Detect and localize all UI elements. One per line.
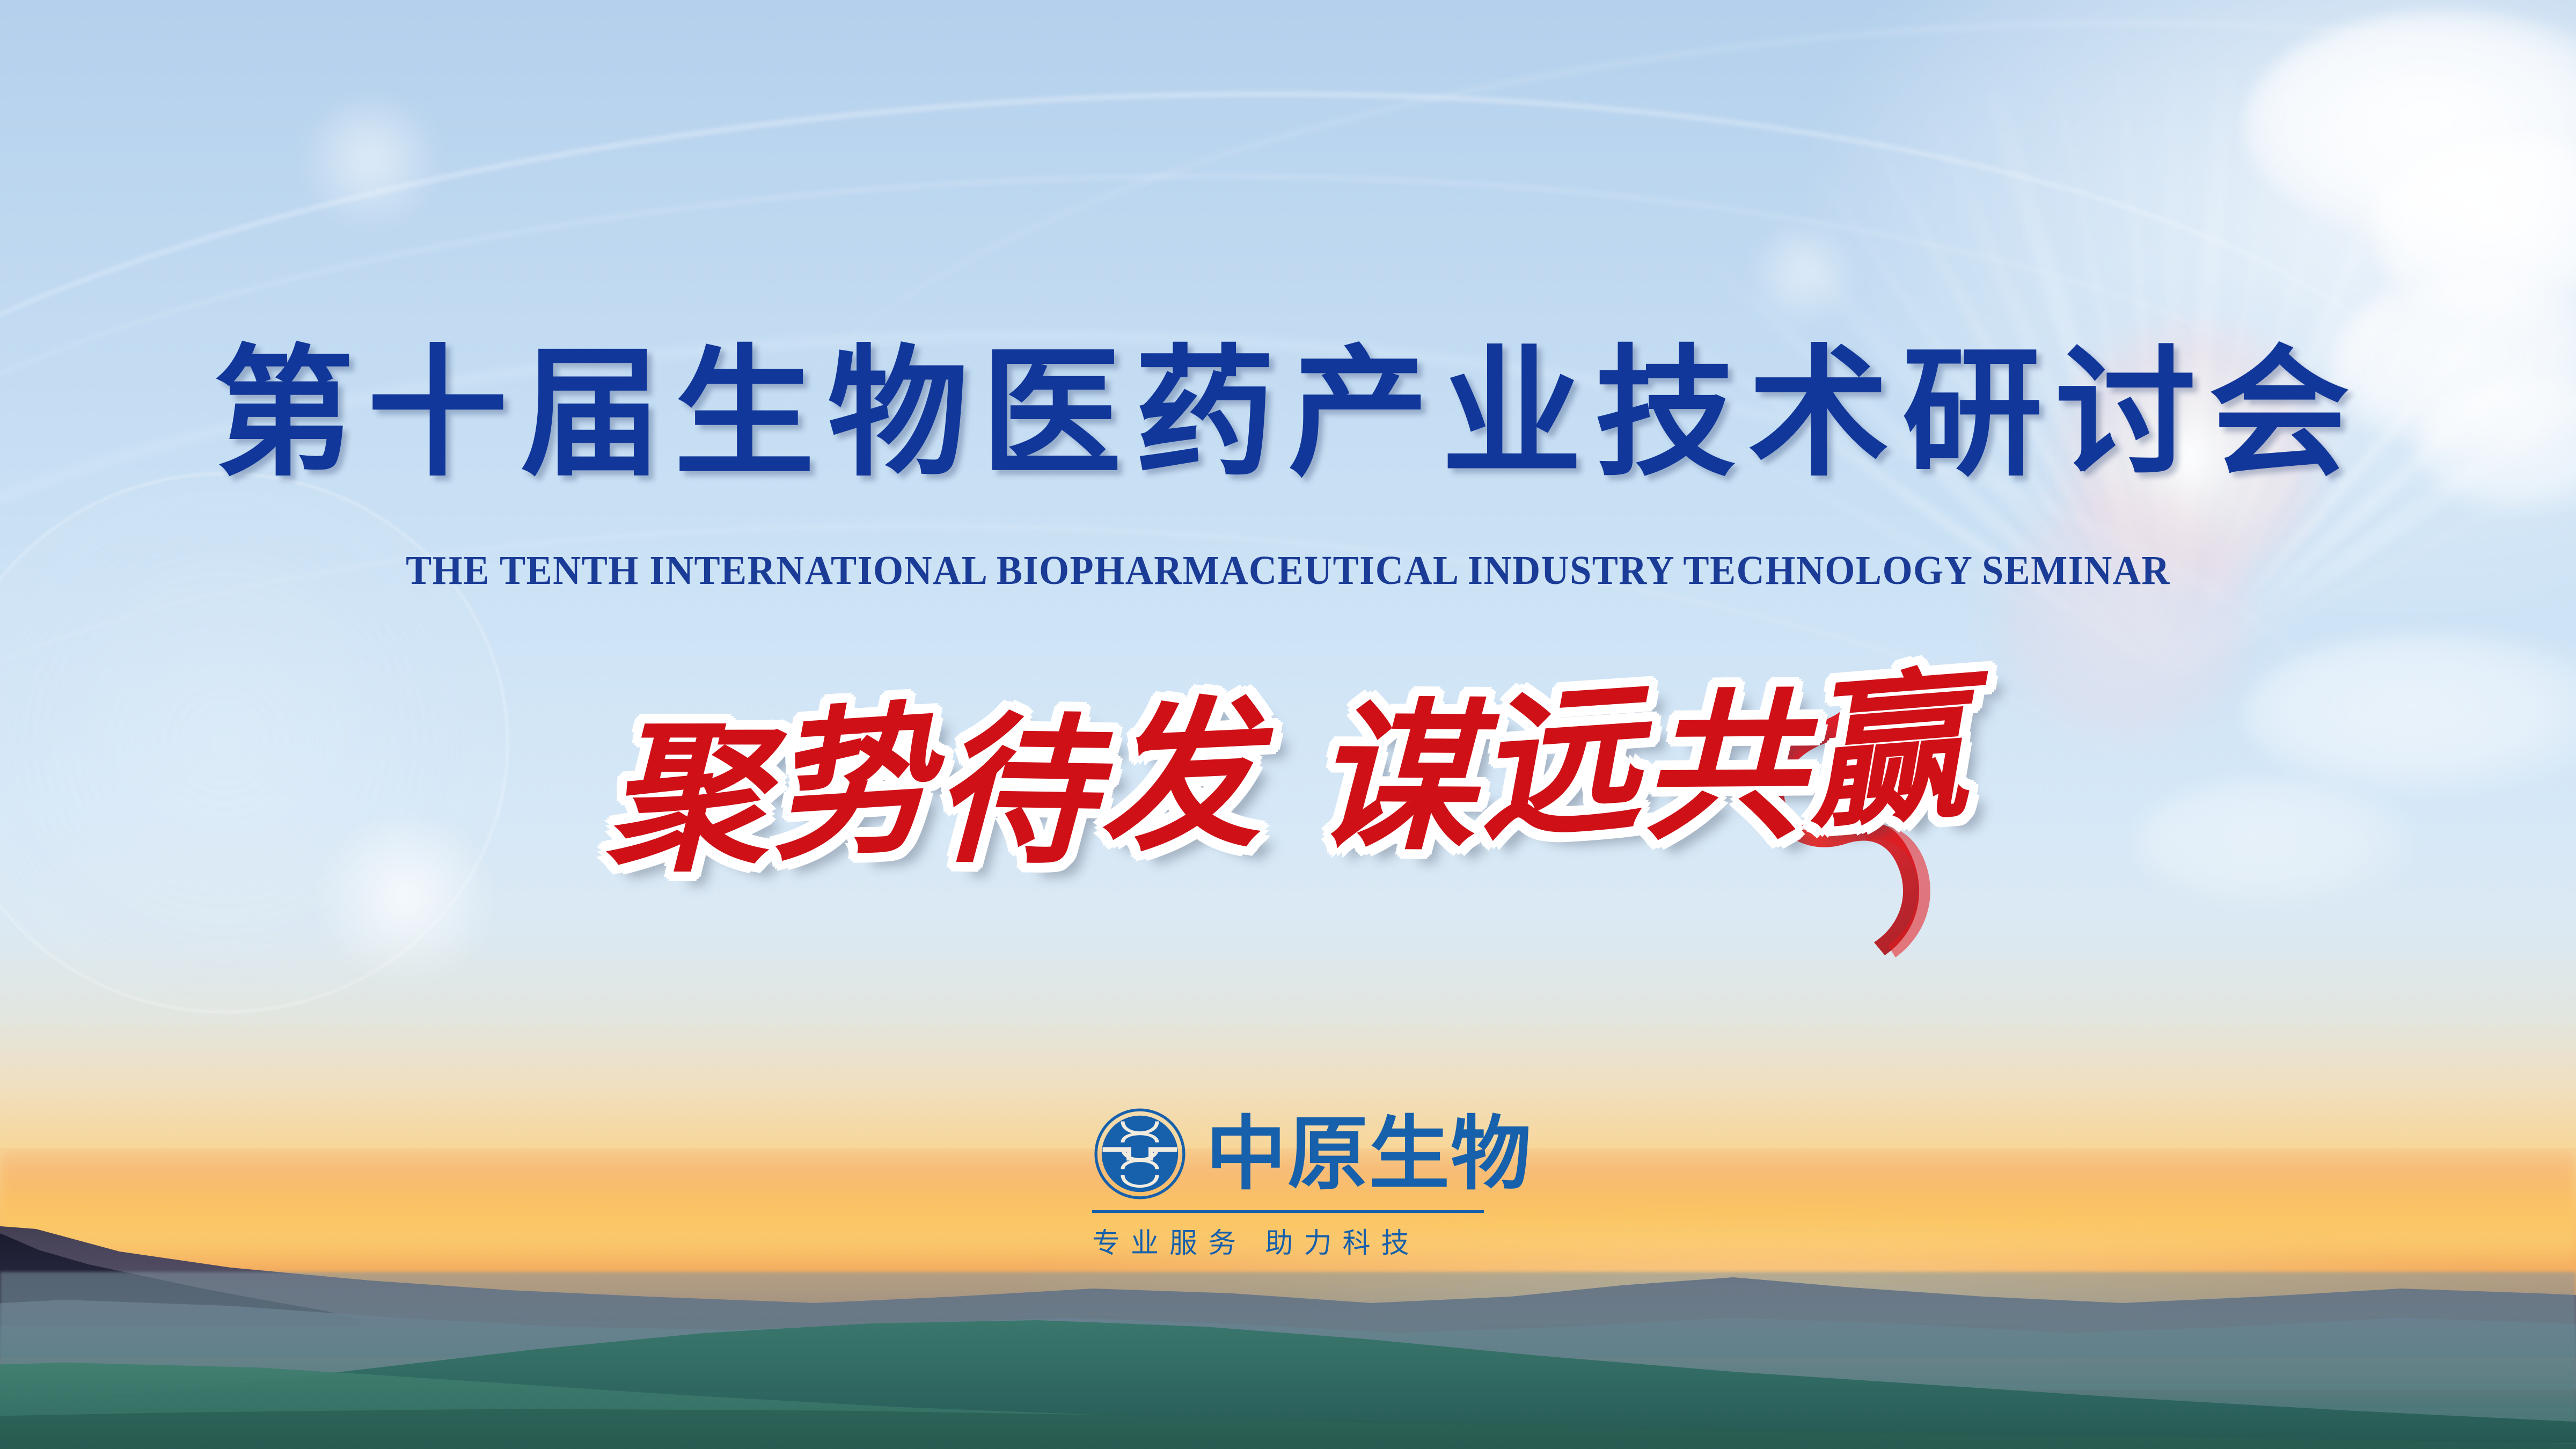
slogan-char: 聚 [605,720,770,881]
logo-tagline: 专业服务 助力科技 [1092,1220,1516,1261]
dna-helix-circle-emblem [1092,1106,1188,1202]
slogan-gap [1264,832,1315,833]
slogan-char: 共 [1642,688,1807,850]
logo-divider [1092,1210,1484,1213]
conference-banner: 第十届生物医药产业技术研讨会 THE TENTH INTERNATIONAL B… [0,0,2576,1449]
logo-company-name: 中原生物 [1206,1114,1532,1194]
page-subtitle: THE TENTH INTERNATIONAL BIOPHARMACEUTICA… [64,547,2512,594]
slogan-char: 发 [1094,695,1265,863]
logo-mark-and-name: 中原生物 [1092,1103,1516,1205]
slogan-char: 势 [765,700,939,872]
slogan-char: 远 [1473,679,1647,851]
slogan-char: 谋 [1313,698,1479,860]
slogan-char: 赢 [1799,667,1975,840]
lens-flare-bubble [301,97,440,236]
page-title: 第十届生物医药产业技术研讨会 [0,343,2576,484]
slogan-char: 待 [933,712,1100,875]
company-logo: 中原生物 专业服务 助力科技 [1092,1103,1516,1253]
lens-flare-bubble [1750,225,1857,333]
